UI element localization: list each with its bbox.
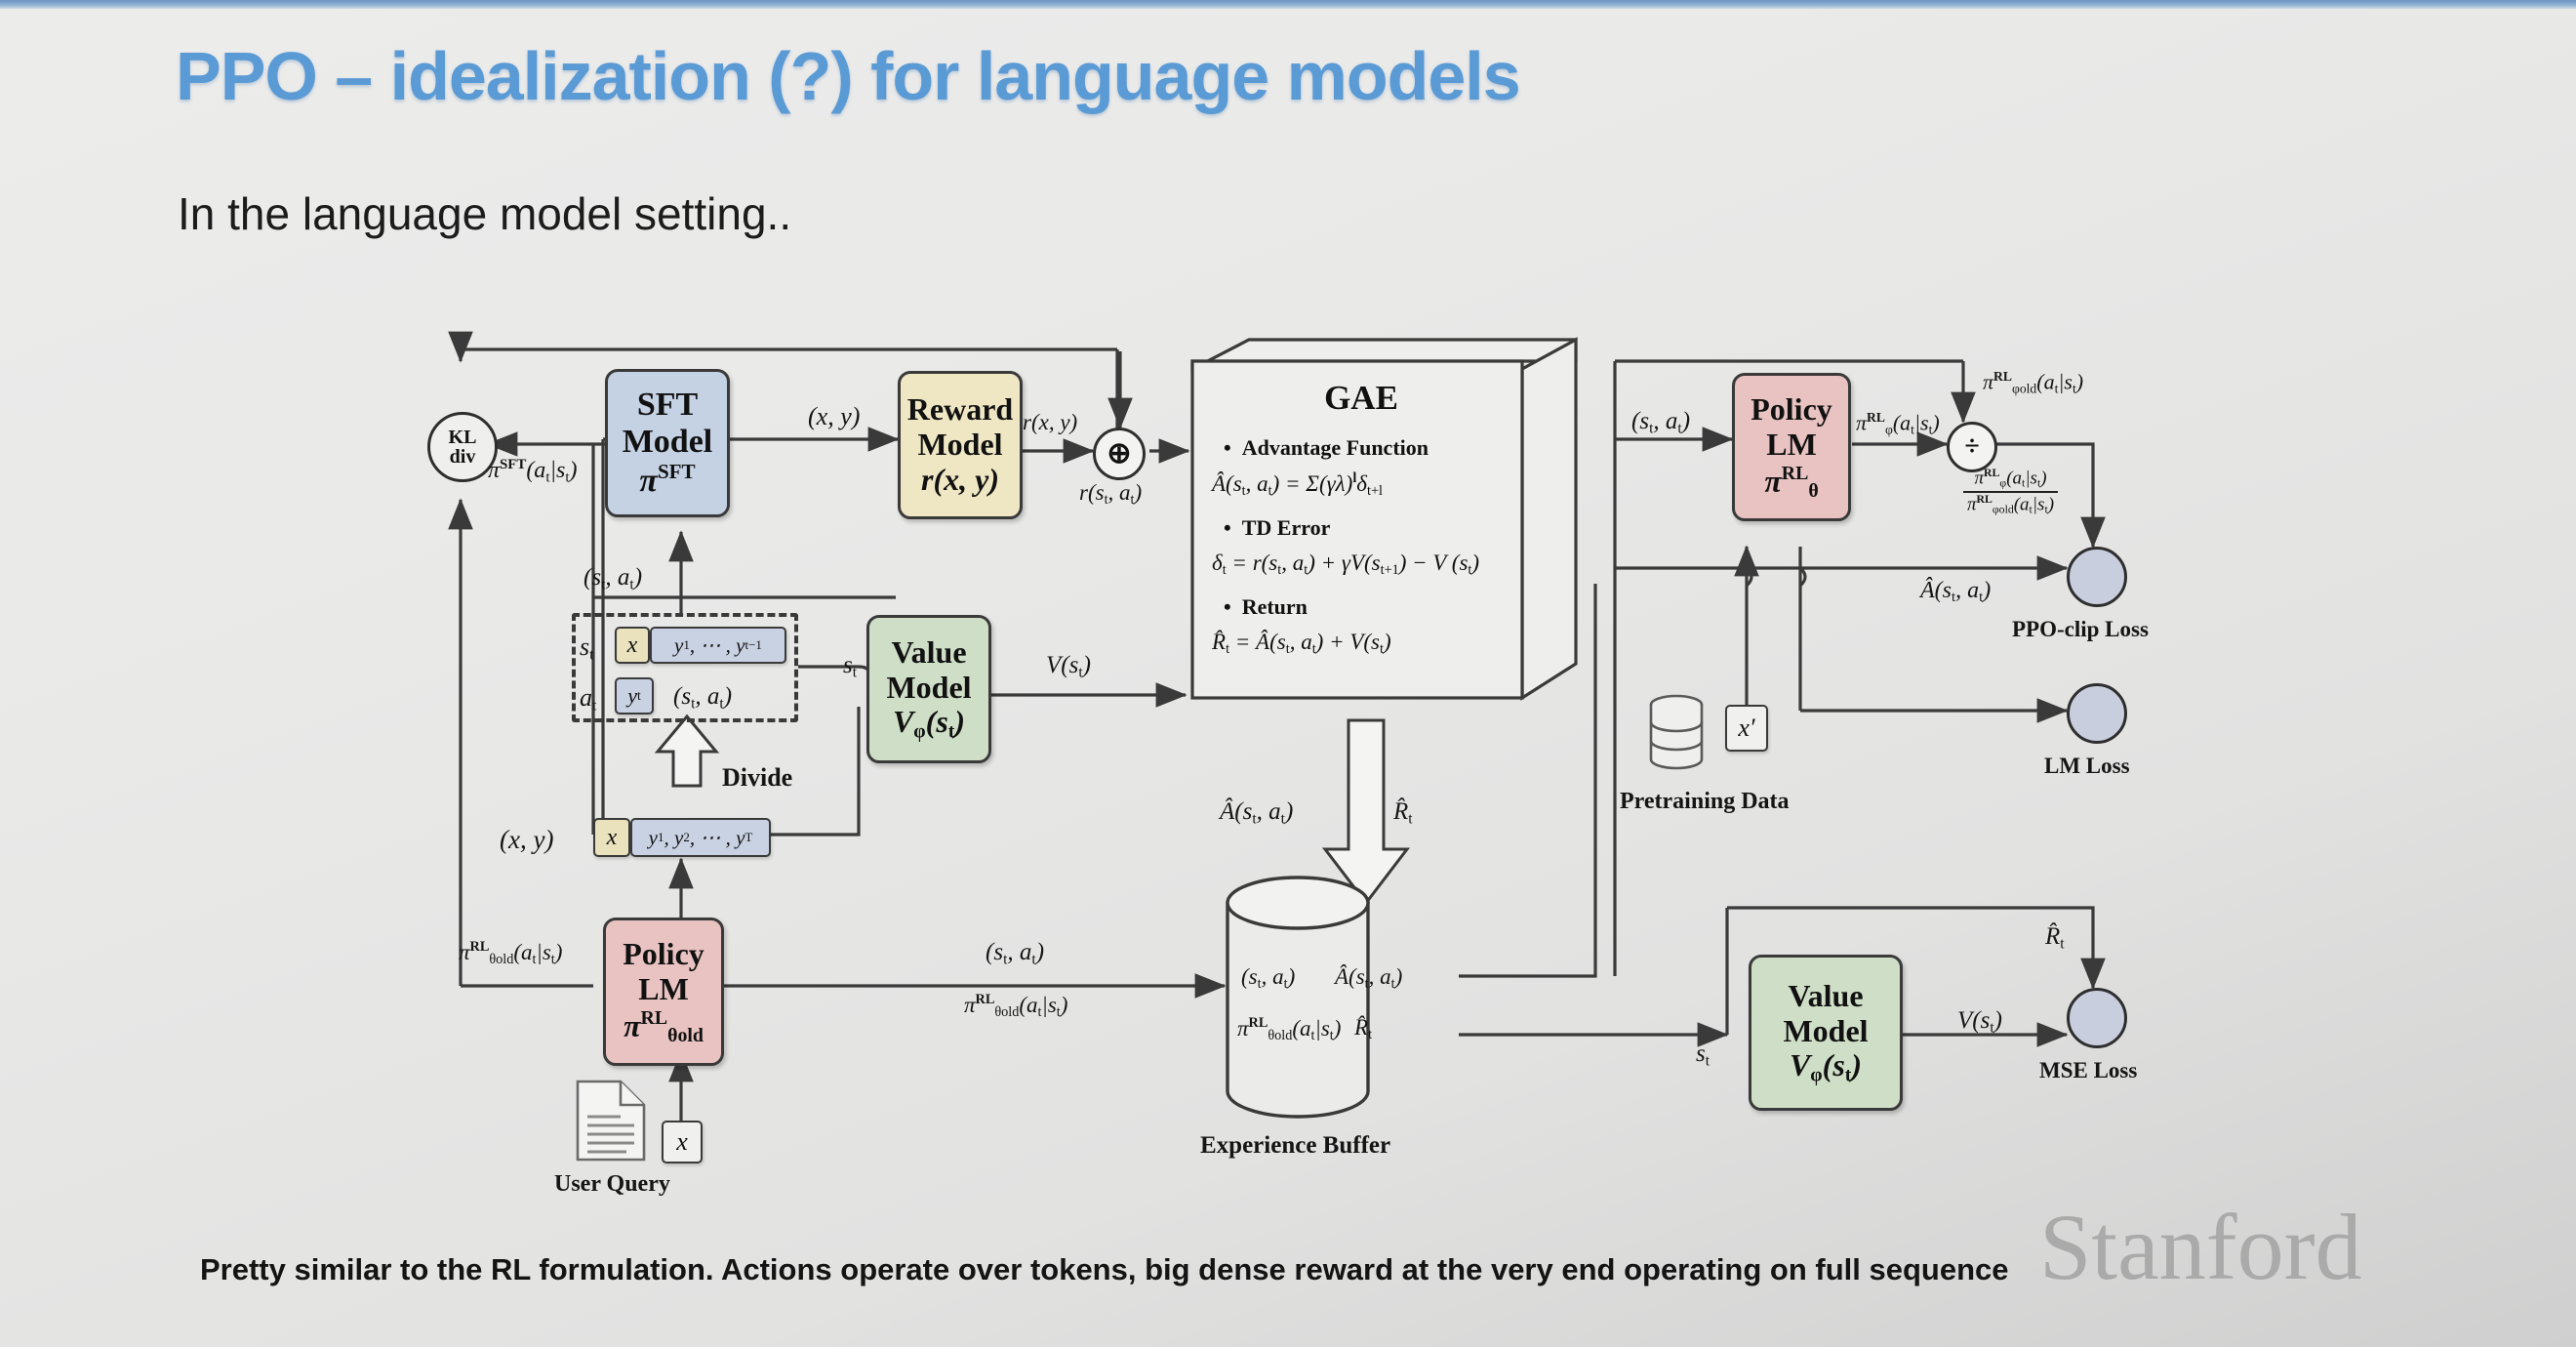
action-row-label: at	[580, 683, 596, 715]
token-query-x[interactable]: x	[662, 1121, 703, 1163]
experience-buffer-caption: Experience Buffer	[1200, 1132, 1390, 1160]
user-query-doc-icon	[578, 1082, 644, 1160]
plus-icon: ⊕	[1107, 439, 1131, 469]
reward-model-line1: Reward	[907, 392, 1013, 428]
token-x-state[interactable]: x	[615, 627, 650, 664]
node-reward-model[interactable]: Reward Model r(x, y)	[898, 371, 1023, 519]
policy-lm-new-line2: LM	[1766, 428, 1817, 463]
policy-lm-old-line1: Policy	[623, 937, 704, 972]
edge-label-xy-to-reward: (x, y)	[808, 402, 860, 431]
value-model-2-line2: Model	[1783, 1014, 1868, 1049]
reward-model-line2: Model	[917, 428, 1002, 463]
edge-label-ratio: πRLφ(at|st) πRLφold(at|st)	[1963, 467, 2058, 516]
label-st-at-in-box: (st, at)	[673, 683, 732, 713]
node-value-model-2[interactable]: Value Model Vφ(st)	[1749, 955, 1903, 1111]
divide-label: Divide	[722, 763, 792, 793]
value-model-1-line1: Value	[891, 635, 966, 671]
circle-plus-operator[interactable]: ⊕	[1093, 428, 1146, 480]
sft-model-line2: Model	[623, 424, 713, 461]
gae-bullet-2: • Return	[1224, 594, 1512, 620]
gae-bullet-0: • Advantage Function	[1224, 435, 1512, 461]
edge-label-r-xy: r(x, y)	[1023, 410, 1077, 435]
ppo-lm-diagram: SFT Model πSFT Reward Model r(x, y) Valu…	[0, 0, 2576, 1347]
edge-label-rhat-to-mse: R̂t	[2045, 923, 2065, 953]
buffer-row1-right: Â(st, at)	[1335, 964, 1402, 993]
experience-buffer-shape	[1228, 878, 1368, 1117]
gae-formula-2: R̂t = Â(st, at) + V(st)	[1212, 630, 1512, 658]
pretraining-db-icon	[1651, 696, 1702, 768]
token-x-full[interactable]: x	[593, 818, 630, 857]
node-sft-model[interactable]: SFT Model πSFT	[605, 369, 730, 517]
gae-bullet-1: • TD Error	[1224, 515, 1512, 541]
edge-label-adv-to-ppo: Â(st, at)	[1920, 578, 1991, 606]
pretraining-data-caption: Pretraining Data	[1620, 789, 1790, 815]
reward-model-symbol: r(x, y)	[921, 463, 999, 498]
value-model-1-line2: Model	[886, 671, 971, 706]
edge-label-pi-theta-old-buffer: πRLθold(at|st)	[964, 992, 1067, 1021]
edge-label-pi-phi-old: πRLφold(at|st)	[1983, 369, 2083, 396]
edge-label-st-at-to-policy: (st, at)	[1631, 408, 1690, 437]
node-value-model-1[interactable]: Value Model Vφ(st)	[866, 615, 991, 763]
token-y-prefix[interactable]: y1, ⋯ , yt−1	[650, 627, 786, 664]
edge-label-st-to-value: st	[843, 652, 857, 681]
sft-model-line1: SFT	[637, 387, 698, 424]
policy-lm-old-symbol: πRLθold	[624, 1007, 704, 1046]
edge-label-v-st-2: V(st)	[1957, 1007, 2002, 1037]
buffer-row2-left: πRLθold(at|st)	[1237, 1015, 1341, 1044]
edge-label-st-at-to-buffer: (st, at)	[986, 939, 1044, 968]
edge-label-st-to-value2: st	[1696, 1041, 1710, 1070]
edge-label-st-at-to-sft: (st, at)	[584, 564, 642, 593]
user-query-caption: User Query	[554, 1171, 670, 1198]
gae-formula-0: Â(st, at) = Σ(γλ)lδt+l	[1212, 470, 1512, 500]
buffer-row1-left: (st, at)	[1241, 964, 1295, 993]
label-xy-pair: (x, y)	[500, 825, 553, 855]
kl-div-line1: KL	[449, 428, 477, 447]
ppo-clip-loss-label: PPO-clip Loss	[2012, 617, 2149, 642]
buffer-row2-right: R̂t	[1354, 1015, 1372, 1043]
gae-title: GAE	[1210, 379, 1512, 418]
value-model-1-symbol: Vφ(st)	[893, 705, 965, 743]
state-row-label: st	[580, 633, 594, 665]
slide-caption: Pretty similar to the RL formulation. Ac…	[200, 1252, 2561, 1287]
circle-mse-loss[interactable]	[2067, 988, 2127, 1048]
gae-formula-1: δt = r(st, at) + γV(st+1) − V (st)	[1212, 551, 1512, 579]
circle-divide-operator[interactable]: ÷	[1947, 422, 1997, 472]
value-model-2-line1: Value	[1788, 979, 1863, 1014]
circle-ppo-clip-loss[interactable]	[2067, 547, 2127, 607]
node-policy-lm-new[interactable]: Policy LM πRLθ	[1732, 373, 1851, 521]
token-y-t[interactable]: yt	[615, 677, 654, 714]
policy-lm-old-line2: LM	[638, 972, 689, 1007]
value-model-2-symbol: Vφ(st)	[1790, 1048, 1862, 1086]
mse-loss-label: MSE Loss	[2039, 1058, 2137, 1083]
divide-hollow-arrow	[658, 716, 716, 786]
lm-loss-label: LM Loss	[2044, 754, 2130, 779]
edge-label-advantage-out: Â(st, at)	[1220, 798, 1293, 828]
edge-label-v-st: V(st)	[1046, 652, 1091, 681]
sft-model-symbol: πSFT	[639, 461, 695, 500]
gae-content: GAE • Advantage Function Â(st, at) = Σ(γ…	[1210, 379, 1512, 658]
edge-label-r-st-at: r(st, at)	[1079, 480, 1142, 509]
edge-label-pi-sft: πSFT(at|st)	[488, 457, 578, 486]
divide-icon: ÷	[1964, 433, 1979, 461]
kl-div-line2: div	[450, 447, 476, 467]
token-x-prime[interactable]: x′	[1725, 705, 1768, 752]
policy-lm-new-line1: Policy	[1751, 392, 1832, 428]
edge-label-pi-theta-old-left: πRLθold(at|st)	[459, 939, 562, 968]
edge-label-pi-phi: πRLφ(at|st)	[1856, 410, 1940, 437]
token-full-sequence[interactable]: y1, y2, ⋯ , yT	[630, 818, 771, 857]
node-policy-lm-old[interactable]: Policy LM πRLθold	[603, 918, 724, 1066]
policy-lm-new-symbol: πRLθ	[1764, 463, 1818, 502]
circle-lm-loss[interactable]	[2067, 683, 2127, 744]
edge-label-return-out: R̂t	[1393, 798, 1413, 828]
